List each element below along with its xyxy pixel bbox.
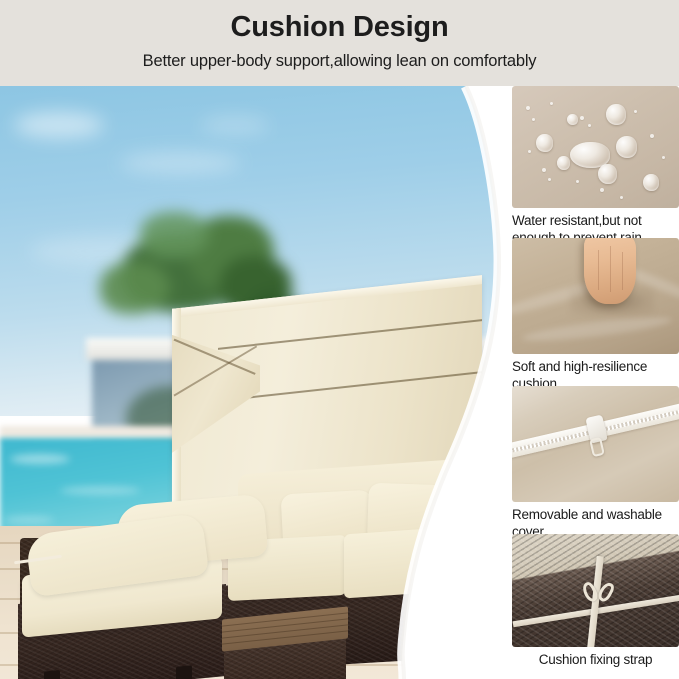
photo-canvas [0,86,510,679]
feature-item-soft-resilience: Soft and high-resilience cushion [512,238,679,392]
feature-caption-line: Water resistant,but not [512,212,679,229]
water-droplets-image [512,86,679,208]
feature-list: Water resistant,but not enough to preven… [512,86,679,679]
page-subtitle: Better upper-body support,allowing lean … [143,49,537,73]
cloud-icon [14,112,104,138]
fixing-strap-image [512,534,679,647]
cloud-icon [120,152,240,174]
feature-caption: Cushion fixing strap [512,651,679,668]
zipper-image [512,386,679,502]
feature-item-fixing-strap: Cushion fixing strap [512,534,679,668]
feature-item-water-resistant: Water resistant,but not enough to preven… [512,86,679,246]
feature-item-removable-cover: Removable and washable cover [512,386,679,540]
feature-caption-line: Cushion fixing strap [512,651,679,668]
seat-cushion [344,526,472,599]
page-header: Cushion Design Better upper-body support… [0,0,679,86]
cloud-icon [200,116,270,134]
hand-icon [584,238,636,304]
main-product-photo [0,86,510,679]
hand-press-cushion-image [512,238,679,354]
page-title: Cushion Design [231,9,449,46]
product-feature-page: Cushion Design Better upper-body support… [0,0,679,679]
